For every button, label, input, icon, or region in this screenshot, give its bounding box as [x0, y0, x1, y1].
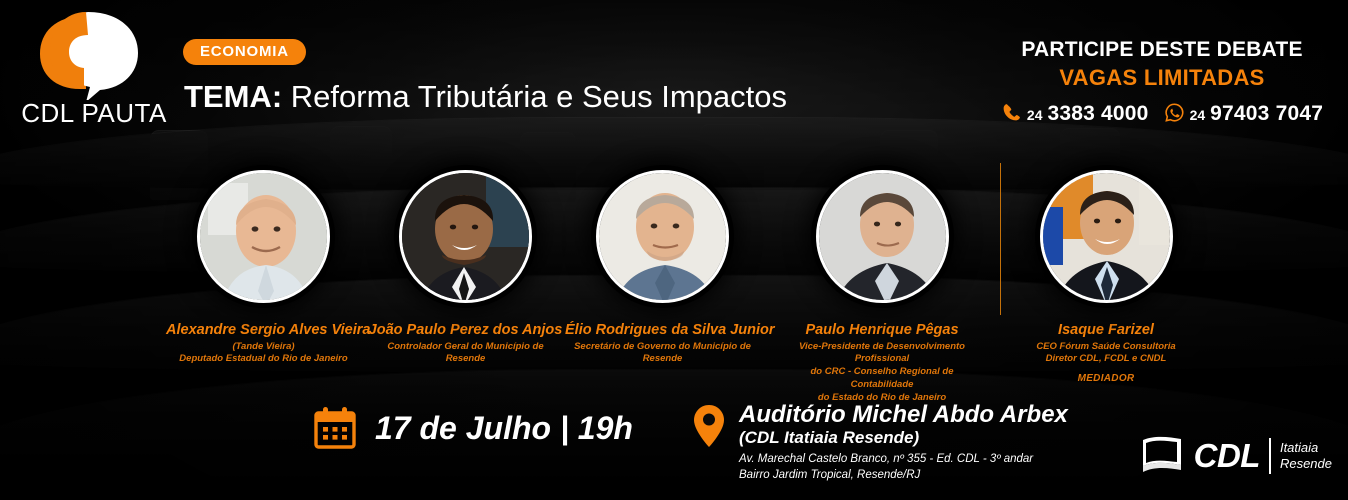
speaker-role: Secretário de Governo do Município de Re… — [565, 341, 760, 367]
venue-address-line2: Bairro Jardim Tropical, Resende/RJ — [739, 467, 1068, 484]
cdl-region-line2: Resende — [1280, 456, 1332, 472]
venue-title: Auditório Michel Abdo Arbex — [739, 402, 1068, 427]
venue-address-line1: Av. Marechal Castelo Branco, nº 355 - Ed… — [739, 451, 1068, 468]
event-venue-block: Auditório Michel Abdo Arbex (CDL Itatiai… — [693, 402, 1068, 484]
portrait-photo — [599, 173, 726, 300]
speaker-name: Isaque Farizel — [1003, 322, 1209, 339]
cdl-wordmark: CDL — [1194, 437, 1260, 475]
speaker-list: Alexandre Sergio Alves Vieira (Tande Vie… — [0, 0, 1348, 500]
avatar — [197, 170, 330, 303]
venue-text: Auditório Michel Abdo Arbex (CDL Itatiai… — [739, 402, 1068, 484]
speaker-name: Paulo Henrique Pêgas — [782, 322, 982, 339]
speaker-card: João Paulo Perez dos Anjos Controlador G… — [368, 170, 563, 366]
mediator-tag: MEDIADOR — [1003, 373, 1209, 384]
speaker-role: CEO Fórum Saúde ConsultoriaDiretor CDL, … — [1003, 341, 1209, 367]
avatar — [399, 170, 532, 303]
speaker-card: Élio Rodrigues da Silva Junior Secretári… — [565, 170, 760, 366]
cdl-itatiaia-logo: CDL Itatiaia Resende — [1139, 434, 1332, 478]
cdl-flag-icon — [1139, 434, 1185, 478]
avatar — [816, 170, 949, 303]
speaker-role: Controlador Geral do Município de Resend… — [368, 341, 563, 367]
venue-subtitle: (CDL Itatiaia Resende) — [739, 428, 1068, 448]
cdl-region-line1: Itatiaia — [1280, 440, 1332, 456]
portrait-photo — [1043, 173, 1170, 300]
portrait-photo — [200, 173, 327, 300]
event-banner: CDL PAUTA ECONOMIA TEMA: Reforma Tributá… — [0, 0, 1348, 500]
speaker-card-mediator: Isaque Farizel CEO Fórum Saúde Consultor… — [1003, 170, 1209, 384]
portrait-photo — [819, 173, 946, 300]
calendar-icon — [311, 404, 359, 452]
speaker-card: Paulo Henrique Pêgas Vice-Presidente de … — [782, 170, 982, 405]
speaker-name: Élio Rodrigues da Silva Junior — [565, 322, 760, 339]
avatar — [596, 170, 729, 303]
speaker-role: Vice-Presidente de Desenvolvimento Profi… — [782, 341, 982, 405]
speaker-card: Alexandre Sergio Alves Vieira (Tande Vie… — [166, 170, 361, 366]
logo-divider — [1269, 438, 1271, 474]
cdl-region-label: Itatiaia Resende — [1280, 440, 1332, 473]
portrait-photo — [402, 173, 529, 300]
map-pin-icon — [693, 404, 725, 448]
speaker-name: João Paulo Perez dos Anjos — [368, 322, 563, 339]
speaker-name: Alexandre Sergio Alves Vieira — [166, 322, 361, 339]
event-date-block: 17 de Julho | 19h — [311, 404, 633, 452]
avatar — [1040, 170, 1173, 303]
event-date-text: 17 de Julho | 19h — [375, 410, 633, 447]
speaker-role: (Tande Vieira)Deputado Estadual do Rio d… — [166, 341, 361, 367]
